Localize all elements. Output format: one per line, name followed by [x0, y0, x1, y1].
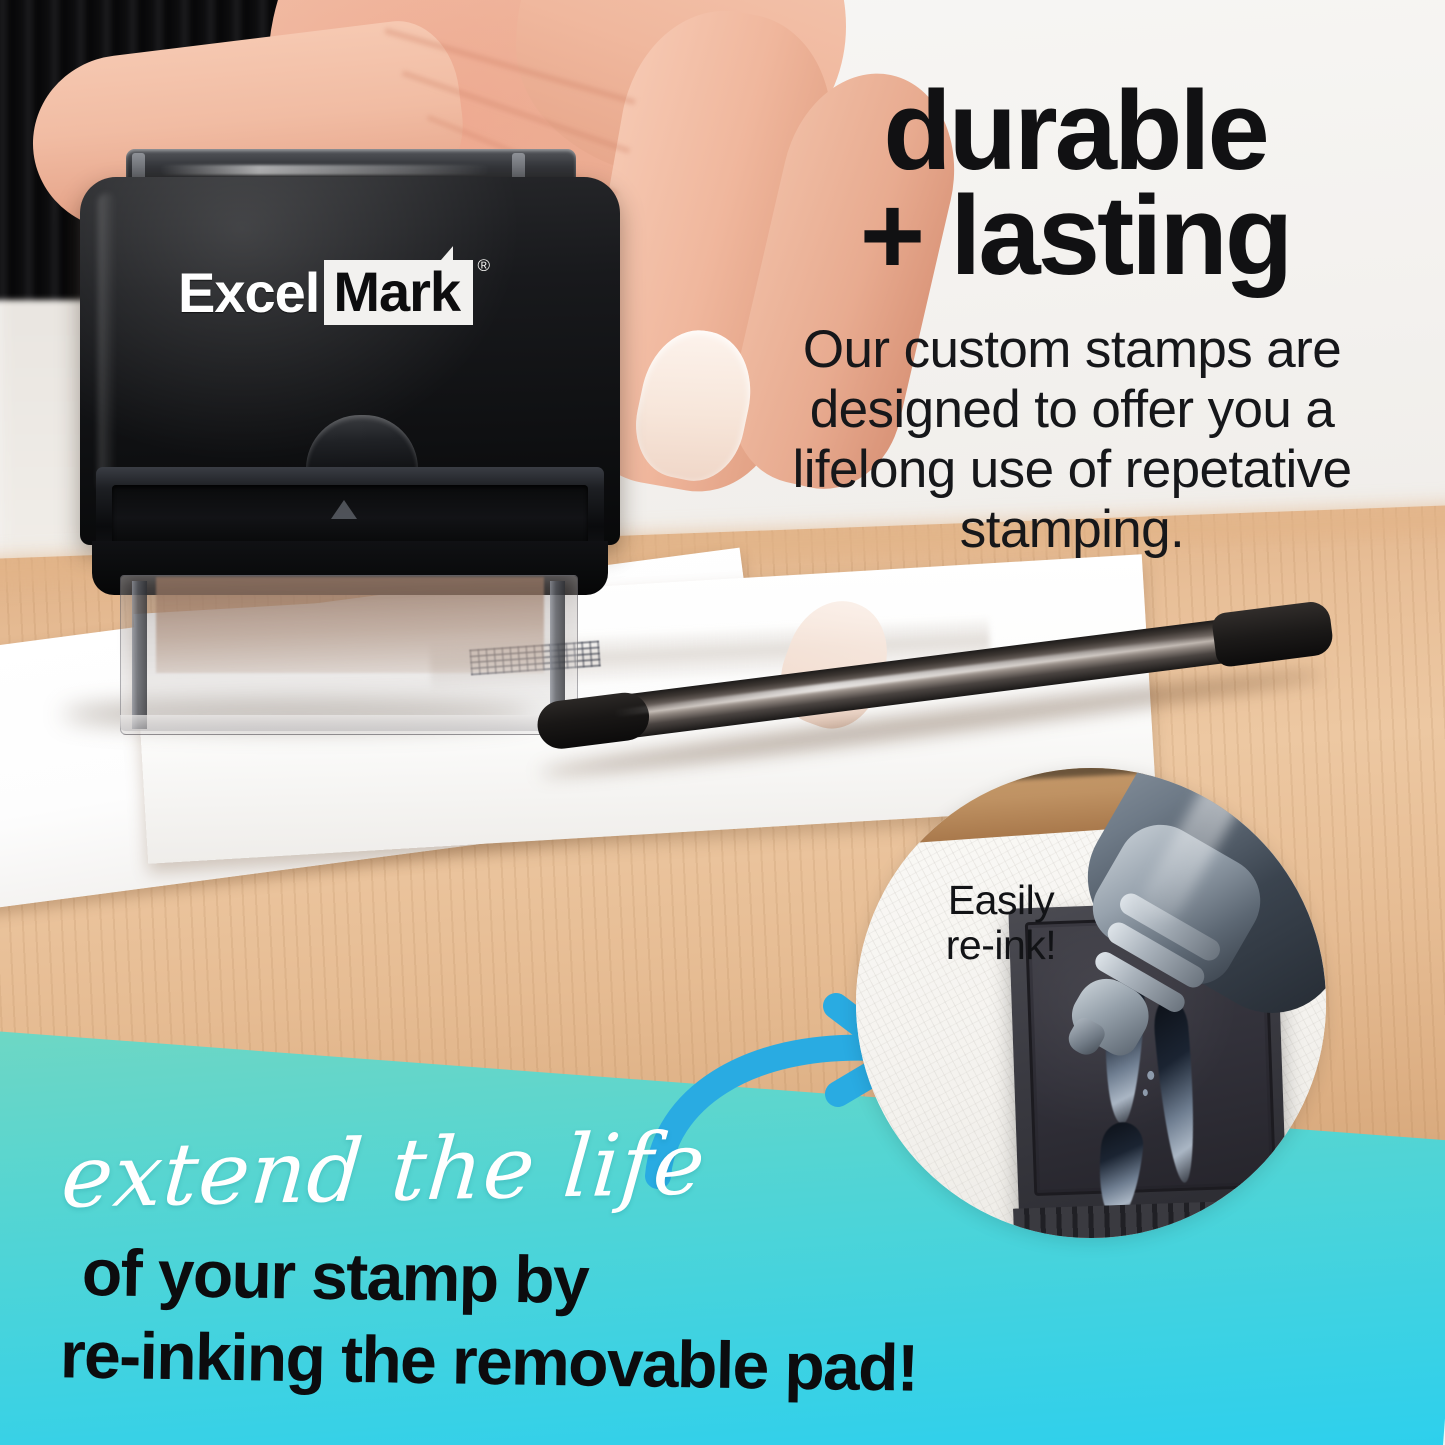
pen-grip — [1211, 600, 1335, 668]
banner-script-headline: extend the life — [58, 1121, 709, 1221]
base-rail-left — [132, 581, 147, 729]
inset-label-line-2: re-ink! — [896, 923, 1106, 968]
inset-label-line-1: Easily — [896, 878, 1106, 923]
housing-highlight — [98, 193, 116, 493]
logo-text-excel: Excel — [178, 265, 319, 321]
base-interior — [156, 577, 544, 673]
logo-mark-plate: Mark ® — [324, 260, 473, 325]
self-inking-stamp: Excel Mark ® — [72, 145, 624, 720]
logo-text-mark: Mark — [333, 260, 460, 323]
banner-text-line-3: re-inking the removable pad! — [60, 1321, 918, 1400]
poster-root: Excel Mark ® — [0, 0, 1445, 1445]
excelmark-logo: Excel Mark ® — [178, 260, 473, 325]
alignment-arrow-icon — [331, 500, 357, 519]
lid-highlight — [160, 165, 490, 175]
headline: durable + lasting — [760, 78, 1390, 289]
banner-text-line-2: of your stamp by — [82, 1239, 589, 1313]
base-foot — [120, 715, 578, 731]
headline-line-2: + lasting — [760, 183, 1390, 288]
pen-cap — [535, 690, 652, 752]
pad-chevron-icon — [1186, 1223, 1233, 1238]
registered-trademark-icon: ® — [478, 257, 491, 274]
subcopy-paragraph: Our custom stamps are designed to offer … — [748, 320, 1396, 560]
inset-callout-label: Easily re-ink! — [896, 878, 1106, 968]
reink-closeup-inset — [856, 768, 1326, 1238]
